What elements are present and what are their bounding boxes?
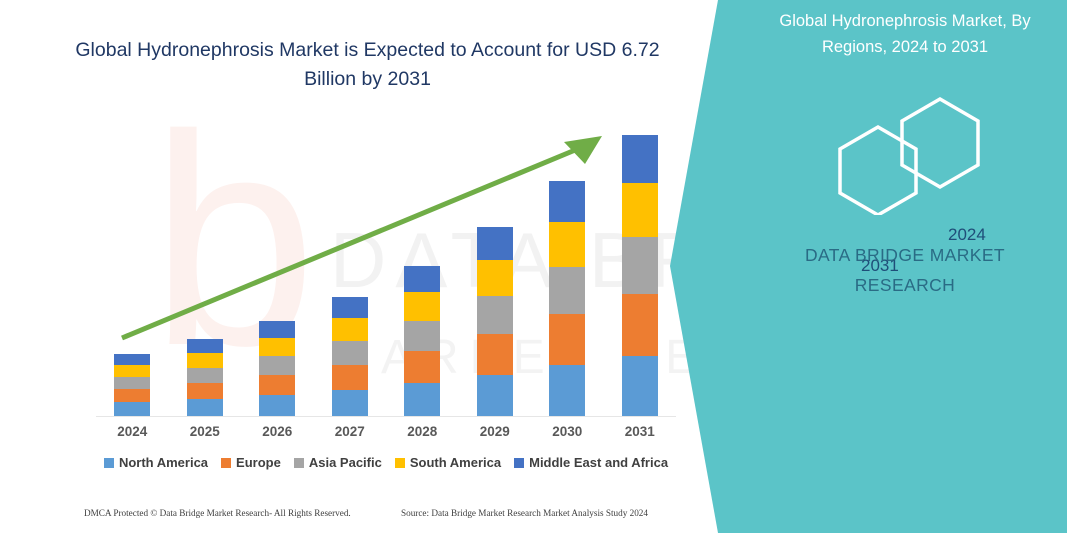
x-axis-label: 2025 bbox=[169, 424, 241, 439]
bar-segment bbox=[114, 377, 150, 389]
bar-segment bbox=[404, 383, 440, 416]
infographic-canvas: b DATA BRIDGE MARKET RESEARCH Global Hyd… bbox=[0, 0, 1067, 533]
bar-column bbox=[622, 135, 658, 416]
legend-swatch-icon bbox=[221, 458, 231, 468]
bar-segment bbox=[187, 383, 223, 399]
bar-segment bbox=[549, 181, 585, 222]
bar-segment bbox=[259, 338, 295, 356]
bar-segment bbox=[549, 314, 585, 365]
bar-segment bbox=[622, 183, 658, 237]
x-axis-label: 2028 bbox=[386, 424, 458, 439]
bar-segment bbox=[114, 389, 150, 402]
bar-segment bbox=[114, 354, 150, 365]
bar-segment bbox=[332, 390, 368, 416]
bar-segment bbox=[477, 296, 513, 334]
bar-segment bbox=[187, 368, 223, 383]
x-axis-labels: 20242025202620272028202920302031 bbox=[96, 424, 676, 446]
legend-swatch-icon bbox=[104, 458, 114, 468]
bar-column bbox=[477, 227, 513, 416]
legend-item[interactable]: Middle East and Africa bbox=[514, 455, 668, 470]
bar-segment bbox=[332, 341, 368, 365]
x-axis-label: 2024 bbox=[96, 424, 168, 439]
hexagon-pair: 2024 2031 bbox=[820, 95, 1050, 215]
legend-swatch-icon bbox=[395, 458, 405, 468]
bar-segment bbox=[114, 365, 150, 377]
x-axis-label: 2030 bbox=[531, 424, 603, 439]
hexagon-2024 bbox=[902, 99, 978, 187]
bar-segment bbox=[549, 267, 585, 314]
legend-item[interactable]: Europe bbox=[221, 455, 281, 470]
bar-column bbox=[259, 321, 295, 416]
bar-segment bbox=[404, 292, 440, 321]
panel-brand-text: DATA BRIDGE MARKET RESEARCH bbox=[760, 240, 1050, 300]
bar-column bbox=[332, 297, 368, 416]
legend-label: South America bbox=[410, 455, 501, 470]
bar-segment bbox=[622, 356, 658, 416]
bar-segment bbox=[549, 365, 585, 416]
bar-column bbox=[549, 181, 585, 416]
bar-segment bbox=[622, 294, 658, 356]
hexagon-shapes bbox=[820, 95, 1050, 215]
panel-title: Global Hydronephrosis Market, By Regions… bbox=[755, 8, 1055, 60]
bar-segment bbox=[259, 395, 295, 416]
legend-swatch-icon bbox=[294, 458, 304, 468]
bar-segment bbox=[187, 353, 223, 368]
bar-segment bbox=[187, 399, 223, 416]
bar-segment bbox=[332, 365, 368, 390]
bar-segment bbox=[622, 237, 658, 294]
legend-label: North America bbox=[119, 455, 208, 470]
x-axis-line bbox=[96, 416, 676, 417]
bar-segment bbox=[259, 356, 295, 375]
bar-column bbox=[187, 339, 223, 416]
chart-title: Global Hydronephrosis Market is Expected… bbox=[60, 36, 675, 94]
chart-plot-area bbox=[96, 120, 676, 416]
bar-segment bbox=[404, 266, 440, 292]
footer-source: Source: Data Bridge Market Research Mark… bbox=[401, 508, 648, 518]
bar-segment bbox=[187, 339, 223, 353]
bar-segment bbox=[477, 227, 513, 260]
footer-copyright: DMCA Protected © Data Bridge Market Rese… bbox=[84, 508, 351, 518]
bar-column bbox=[404, 266, 440, 416]
bar-segment bbox=[404, 321, 440, 351]
legend-label: Europe bbox=[236, 455, 281, 470]
x-axis-label: 2027 bbox=[314, 424, 386, 439]
bar-segment bbox=[259, 321, 295, 338]
bar-segment bbox=[332, 318, 368, 341]
hexagon-2031 bbox=[840, 127, 916, 215]
bar-segment bbox=[549, 222, 585, 267]
bar-column bbox=[114, 354, 150, 416]
legend-item[interactable]: North America bbox=[104, 455, 208, 470]
chart-legend: North AmericaEuropeAsia PacificSouth Ame… bbox=[96, 455, 676, 470]
bar-segment bbox=[477, 260, 513, 296]
legend-swatch-icon bbox=[514, 458, 524, 468]
bar-segment bbox=[114, 402, 150, 416]
bar-segment bbox=[477, 375, 513, 416]
x-axis-label: 2026 bbox=[241, 424, 313, 439]
bar-segment bbox=[622, 135, 658, 183]
x-axis-label: 2031 bbox=[604, 424, 676, 439]
legend-item[interactable]: South America bbox=[395, 455, 501, 470]
bar-segment bbox=[332, 297, 368, 318]
legend-label: Middle East and Africa bbox=[529, 455, 668, 470]
legend-label: Asia Pacific bbox=[309, 455, 382, 470]
bar-segment bbox=[404, 351, 440, 383]
bar-segment bbox=[259, 375, 295, 395]
right-panel: Global Hydronephrosis Market, By Regions… bbox=[670, 0, 1067, 533]
x-axis-label: 2029 bbox=[459, 424, 531, 439]
bar-segment bbox=[477, 334, 513, 375]
legend-item[interactable]: Asia Pacific bbox=[294, 455, 382, 470]
